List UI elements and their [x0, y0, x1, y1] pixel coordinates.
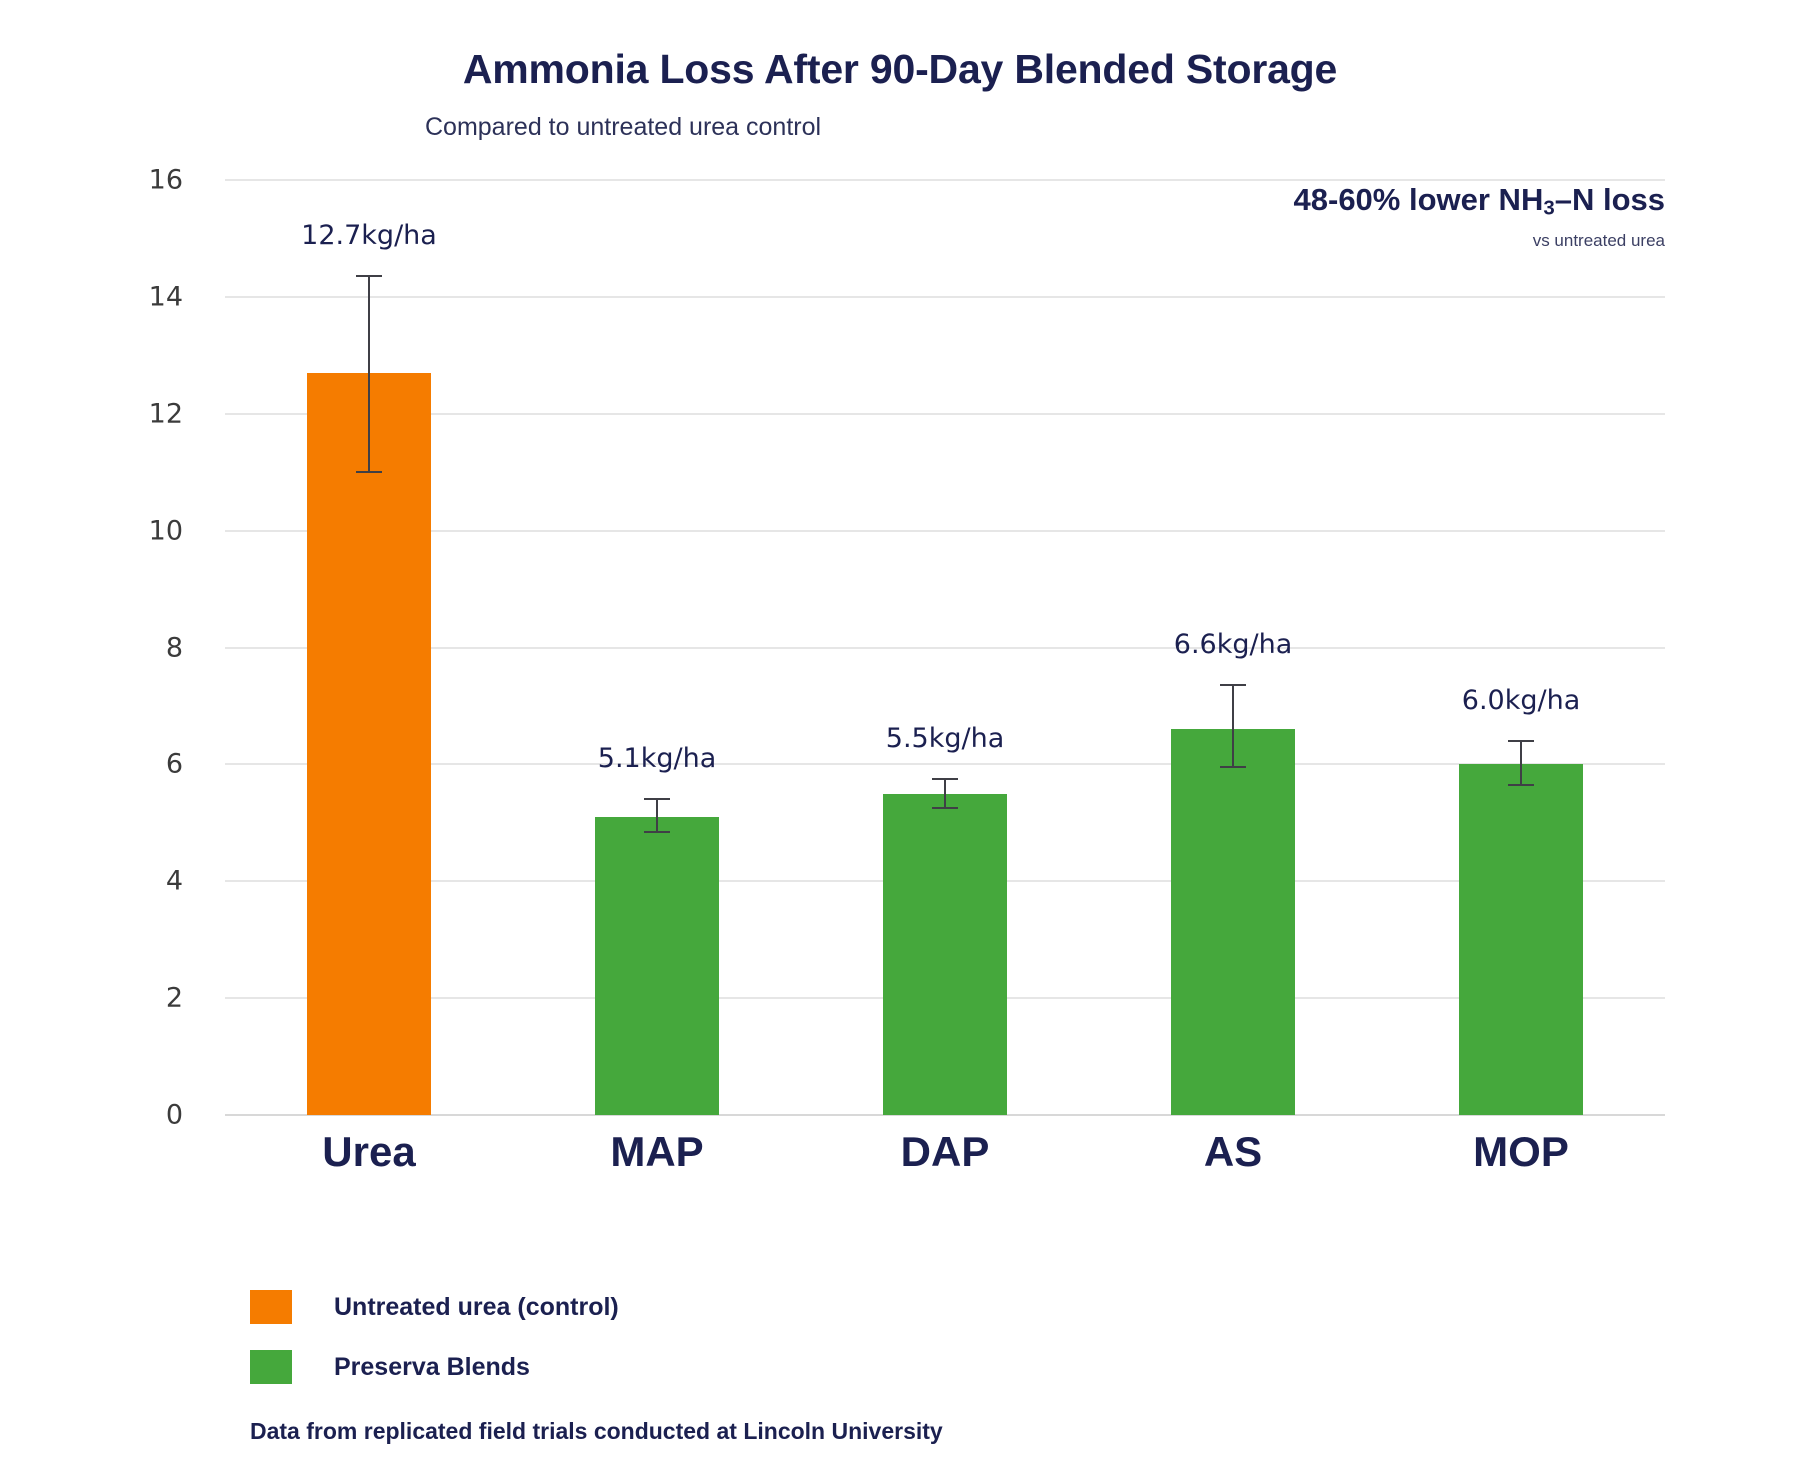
y-tick-label: 16 [149, 165, 183, 196]
error-bar-cap [932, 778, 958, 780]
error-bar-cap [356, 275, 382, 277]
error-bar-cap [1220, 684, 1246, 686]
bar-value-label-map: 5.1kg/ha [598, 743, 716, 774]
bar-mop[interactable] [1459, 764, 1583, 1115]
plot-area: 12.7kg/haUrea5.1kg/haMAP5.5kg/haDAP6.6kg… [225, 180, 1665, 1115]
legend-label: Untreated urea (control) [334, 1293, 619, 1322]
x-tick-label-dap: DAP [901, 1128, 990, 1176]
x-tick-label-urea: Urea [322, 1128, 415, 1176]
bar-value-label-dap: 5.5kg/ha [886, 723, 1004, 754]
bar-dap[interactable] [883, 794, 1007, 1115]
bar-urea[interactable] [307, 373, 431, 1115]
footnote: Data from replicated field trials conduc… [250, 1418, 943, 1445]
x-tick-label-as: AS [1204, 1128, 1262, 1176]
bar-as[interactable] [1171, 729, 1295, 1115]
y-tick-label: 4 [166, 866, 183, 897]
bar-value-label-urea: 12.7kg/ha [301, 220, 437, 251]
legend-swatch-icon [250, 1350, 292, 1384]
y-tick-label: 14 [149, 281, 183, 312]
legend: Untreated urea (control)Preserva Blends [250, 1290, 619, 1410]
bar-series: 12.7kg/haUrea5.1kg/haMAP5.5kg/haDAP6.6kg… [225, 180, 1665, 1115]
error-bar-dap [944, 779, 946, 808]
bar-value-label-mop: 6.0kg/ha [1462, 685, 1580, 716]
chart-page: Ammonia Loss After 90-Day Blended Storag… [0, 0, 1800, 1472]
bar-map[interactable] [595, 817, 719, 1115]
x-tick-label-mop: MOP [1473, 1128, 1569, 1176]
bar-group-dap[interactable]: 5.5kg/haDAP [801, 180, 1089, 1115]
error-bar-cap [1508, 784, 1534, 786]
chart-title: Ammonia Loss After 90-Day Blended Storag… [0, 46, 1800, 93]
error-bar-map [656, 799, 658, 831]
y-tick-label: 0 [166, 1100, 183, 1131]
y-tick-label: 12 [149, 398, 183, 429]
error-bar-cap [1220, 766, 1246, 768]
error-bar-cap [1508, 740, 1534, 742]
error-bar-as [1232, 685, 1234, 767]
y-tick-label: 2 [166, 983, 183, 1014]
bar-group-urea[interactable]: 12.7kg/haUrea [225, 180, 513, 1115]
legend-item-1[interactable]: Preserva Blends [250, 1350, 619, 1384]
y-tick-label: 10 [149, 515, 183, 546]
error-bar-cap [932, 807, 958, 809]
y-tick-label: 8 [166, 632, 183, 663]
legend-swatch-icon [250, 1290, 292, 1324]
error-bar-urea [368, 276, 370, 472]
chart-subtitle: Compared to untreated urea control [425, 113, 821, 142]
y-axis-tick-labels: 0246810121416 [0, 180, 225, 1115]
error-bar-cap [644, 798, 670, 800]
bar-group-map[interactable]: 5.1kg/haMAP [513, 180, 801, 1115]
legend-label: Preserva Blends [334, 1353, 530, 1382]
bar-value-label-as: 6.6kg/ha [1174, 629, 1292, 660]
error-bar-cap [644, 831, 670, 833]
error-bar-cap [356, 471, 382, 473]
legend-item-0[interactable]: Untreated urea (control) [250, 1290, 619, 1324]
error-bar-mop [1520, 741, 1522, 785]
bar-group-as[interactable]: 6.6kg/haAS [1089, 180, 1377, 1115]
x-tick-label-map: MAP [610, 1128, 703, 1176]
bar-group-mop[interactable]: 6.0kg/haMOP [1377, 180, 1665, 1115]
y-tick-label: 6 [166, 749, 183, 780]
